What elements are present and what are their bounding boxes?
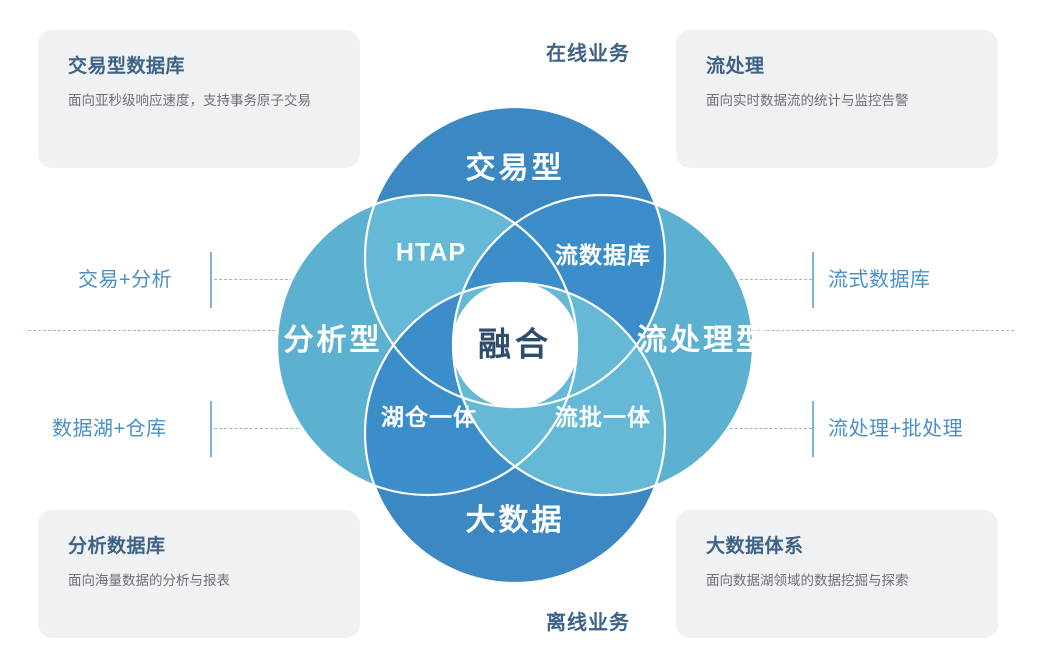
venn-label-left: 分析型 (284, 324, 383, 357)
tick-mark-top-left (210, 252, 212, 308)
card-title: 流处理 (706, 56, 968, 79)
venn-center-label: 融合 (478, 326, 552, 363)
side-label-streaming-database: 流式数据库 (828, 263, 931, 292)
venn-overlap-label-htap: HTAP (396, 239, 466, 267)
venn-overlap-label-stream-db: 流数据库 (555, 242, 651, 268)
venn-label-bottom: 大数据 (466, 504, 565, 537)
venn-overlap-label-stream-batch: 流批一体 (555, 404, 651, 430)
caption-online-business: 在线业务 (546, 37, 630, 66)
venn-label-top: 交易型 (466, 151, 565, 185)
caption-offline-business: 离线业务 (546, 606, 630, 635)
diagram-canvas: 交易型数据库 面向亚秒级响应速度，支持事务原子交易 流处理 面向实时数据流的统计… (0, 0, 1039, 671)
side-label-stream-plus-batch: 流处理+批处理 (828, 412, 963, 441)
venn-label-right: 流处理型 (637, 324, 769, 357)
card-title: 交易型数据库 (68, 56, 330, 79)
side-label-transaction-plus-analysis: 交易+分析 (78, 263, 172, 292)
tick-mark-bottom-right (812, 401, 814, 457)
tick-mark-bottom-left (210, 401, 212, 457)
side-label-datalake-plus-warehouse: 数据湖+仓库 (52, 412, 167, 441)
venn-overlap-label-lakehouse: 湖仓一体 (381, 404, 477, 430)
venn-diagram: 交易型 分析型 流处理型 大数据 HTAP 流数据库 湖仓一体 流批一体 融合 (255, 85, 775, 605)
tick-mark-top-right (812, 252, 814, 308)
